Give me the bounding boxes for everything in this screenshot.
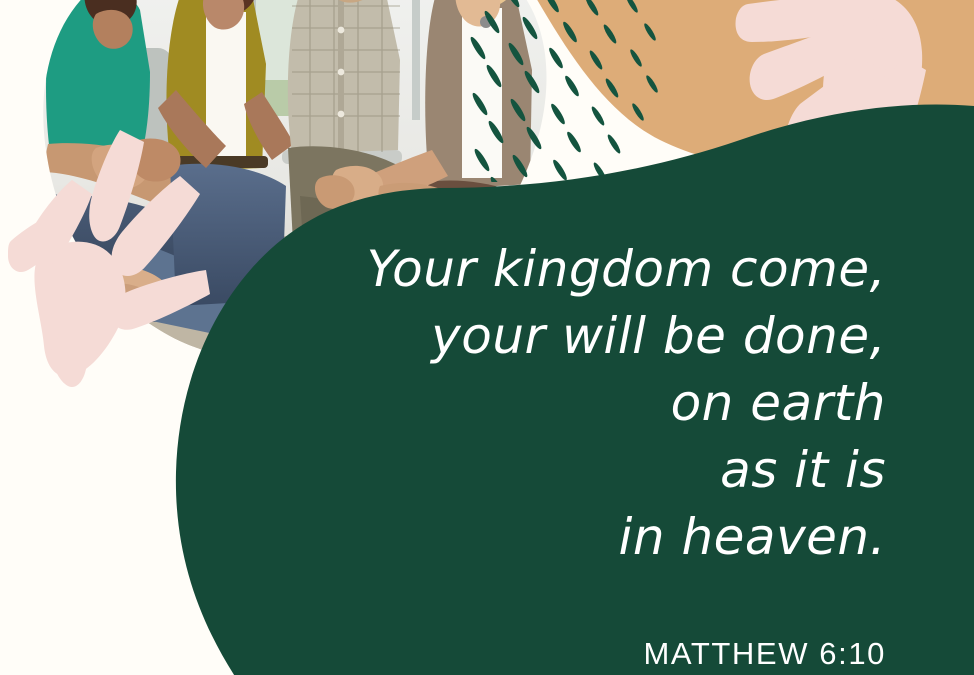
verse-line-1: Your kingdom come,: [300, 236, 886, 303]
verse-line-2: your will be done,: [300, 303, 886, 370]
verse-line-3: on earth: [300, 370, 886, 437]
scripture-poster: Your kingdom come, your will be done, on…: [0, 0, 974, 675]
verse-text-block: Your kingdom come, your will be done, on…: [300, 236, 886, 571]
verse-line-4: as it is: [300, 437, 886, 504]
scripture-reference: MATTHEW 6:10: [300, 636, 886, 672]
verse-line-5: in heaven.: [300, 504, 886, 571]
